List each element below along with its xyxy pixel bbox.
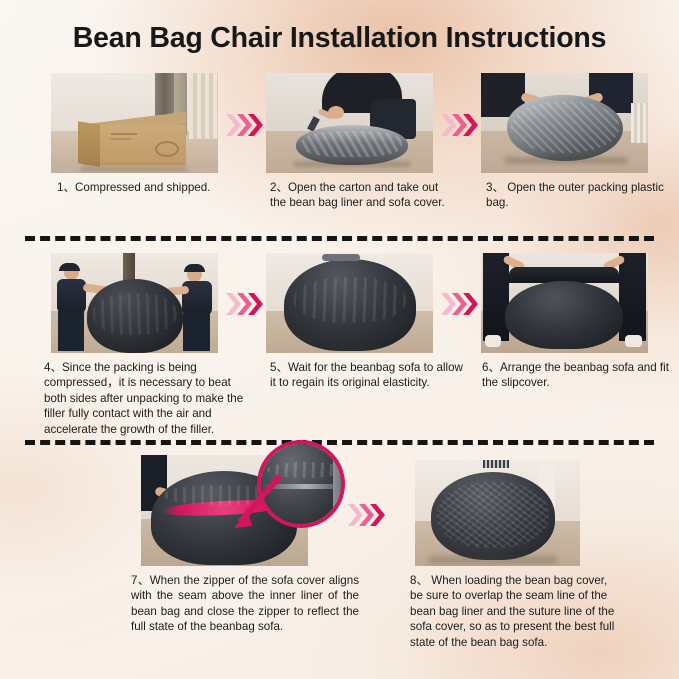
- caption-step-2: 2、Open the carton and take out the bean …: [270, 180, 455, 211]
- arrow-step-5-to-6: [441, 291, 481, 317]
- caption-step-7: 7、When the zipper of the sofa cover alig…: [131, 573, 359, 635]
- arrow-step-4-to-5: [226, 291, 266, 317]
- photo-step-1-shipping-carton: [51, 73, 218, 173]
- row-divider-1: [25, 236, 654, 241]
- caption-step-3: 3、 Open the outer packing plastic bag.: [486, 180, 671, 211]
- callout-pointer-arrow: [218, 468, 290, 540]
- caption-step-4: 4、Since the packing is being compressed，…: [44, 360, 250, 437]
- page-title: Bean Bag Chair Installation Instructions: [0, 22, 679, 55]
- photo-step-2-open-carton: [266, 73, 433, 173]
- photo-step-5-wait-expand: [266, 253, 433, 353]
- photo-step-3-open-plastic-bag: [481, 73, 648, 173]
- chevron-right-icon: [226, 291, 266, 317]
- caption-step-5: 5、Wait for the beanbag sofa to allow it …: [270, 360, 465, 391]
- arrow-step-7-to-8: [348, 502, 388, 528]
- infographic-page: Bean Bag Chair Installation Instructions…: [0, 0, 679, 679]
- photo-step-8-finished-bean-bag: [415, 460, 580, 566]
- caption-step-1: 1、Compressed and shipped.: [57, 180, 247, 195]
- chevron-right-icon: [441, 291, 481, 317]
- chevron-right-icon: [348, 502, 388, 528]
- photo-step-6-fit-slipcover: [481, 253, 648, 353]
- caption-step-8: 8、 When loading the bean bag cover, be s…: [410, 573, 615, 650]
- chevron-right-icon: [226, 112, 266, 138]
- caption-step-6: 6、Arrange the beanbag sofa and fit the s…: [482, 360, 672, 391]
- arrow-step-2-to-3: [441, 112, 481, 138]
- arrow-step-1-to-2: [226, 112, 266, 138]
- chevron-right-icon: [441, 112, 481, 138]
- photo-step-4-beat-both-sides: [51, 253, 218, 353]
